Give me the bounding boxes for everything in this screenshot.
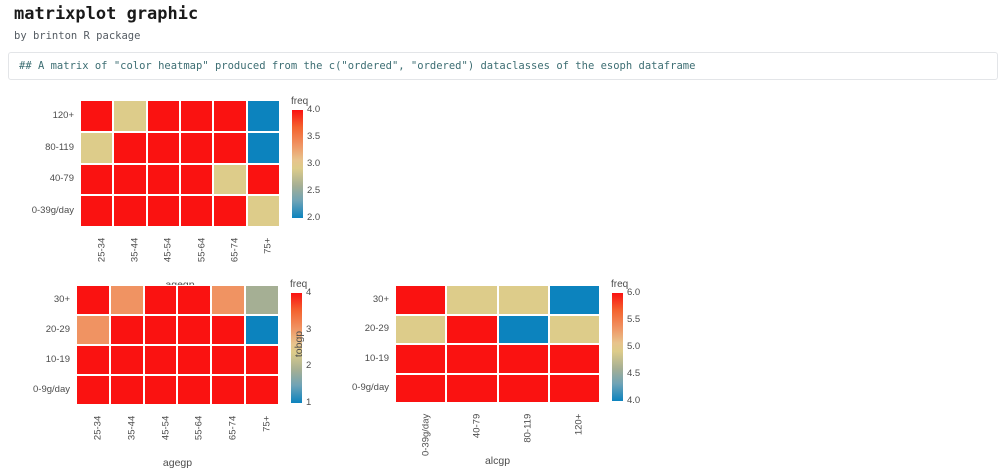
heatmap-cell — [144, 285, 178, 315]
heatmap-cell — [76, 345, 110, 375]
legend-color-bar — [292, 110, 303, 218]
heatmap-cell — [395, 374, 446, 404]
heatmap-cell — [144, 315, 178, 345]
heatmap-cell — [446, 374, 497, 404]
heatmap-cell — [180, 132, 213, 164]
heatmap-cell — [76, 315, 110, 345]
heatmap-cell — [113, 195, 146, 227]
heatmap-cell — [113, 132, 146, 164]
heatmap-cell — [549, 344, 600, 374]
y-tick-label: 120+ — [2, 111, 74, 121]
heatmap-cell — [110, 375, 144, 405]
heatmap-cell — [177, 375, 211, 405]
heatmap-cell — [213, 132, 246, 164]
legend-tick-label: 3.0 — [307, 159, 320, 169]
heatmap-alcgp-agegp: 120+80-11940-790-39g/day25-3435-4445-545… — [0, 92, 340, 277]
heatmap-cell — [177, 285, 211, 315]
heatmap-tobgp-alcgp: 30+20-2910-190-9g/day0-39g/day40-7980-11… — [330, 277, 670, 467]
legend-tick-label: 2.5 — [307, 186, 320, 196]
heatmap-cell — [180, 164, 213, 196]
heatmap-cell — [211, 315, 245, 345]
heatmap-cell — [113, 164, 146, 196]
heatmap-cell — [80, 195, 113, 227]
heatmap-cell — [498, 285, 549, 315]
y-tick-label: 40-79 — [2, 174, 74, 184]
legend-title: freq — [611, 279, 628, 290]
y-tick-label: 20-29 — [317, 324, 389, 334]
heatmap-cell — [177, 315, 211, 345]
heatmap-cell — [147, 132, 180, 164]
x-axis-title: alcgp — [395, 455, 600, 467]
heatmap-cell — [247, 132, 280, 164]
heatmap-panel — [395, 285, 600, 403]
heatmap-cell — [247, 100, 280, 132]
legend-tick-label: 6.0 — [627, 288, 640, 298]
y-tick-label: 10-19 — [317, 354, 389, 364]
heatmap-cell — [80, 164, 113, 196]
heatmap-cell — [446, 344, 497, 374]
heatmap-cell — [213, 100, 246, 132]
legend-tick-label: 3 — [306, 325, 311, 335]
legend-tick-label: 2 — [306, 361, 311, 371]
heatmap-cell — [498, 374, 549, 404]
heatmap-cell — [144, 375, 178, 405]
y-tick-label: 0-39g/day — [2, 206, 74, 216]
legend-tick-label: 2.0 — [307, 213, 320, 223]
heatmap-cell — [549, 374, 600, 404]
heatmap-cell — [213, 195, 246, 227]
code-output-block: ## A matrix of "color heatmap" produced … — [8, 52, 998, 80]
heatmap-cell — [549, 315, 600, 345]
y-tick-label: 30+ — [317, 295, 389, 305]
heatmap-cell — [180, 195, 213, 227]
legend-title: freq — [290, 279, 307, 290]
heatmap-cell — [147, 195, 180, 227]
heatmap-cell — [498, 315, 549, 345]
y-tick-label: 0-9g/day — [0, 385, 70, 395]
heatmap-cell — [113, 100, 146, 132]
legend-tick-label: 4 — [306, 288, 311, 298]
heatmap-cell — [395, 315, 446, 345]
heatmap-cell — [110, 285, 144, 315]
heatmap-cell — [446, 315, 497, 345]
legend-color-bar — [612, 293, 623, 401]
heatmap-cell — [211, 285, 245, 315]
heatmap-cell — [213, 164, 246, 196]
heatmap-cell — [80, 132, 113, 164]
y-tick-label: 30+ — [0, 295, 70, 305]
heatmap-cell — [247, 195, 280, 227]
heatmap-panel — [76, 285, 279, 405]
x-axis-title: agegp — [76, 457, 279, 469]
heatmap-cell — [147, 100, 180, 132]
heatmap-cell — [147, 164, 180, 196]
legend-tick-label: 1 — [306, 398, 311, 408]
heatmap-cell — [395, 344, 446, 374]
heatmap-cell — [245, 345, 279, 375]
legend-tick-label: 4.5 — [627, 369, 640, 379]
heatmap-cell — [549, 285, 600, 315]
legend-tick-label: 3.5 — [307, 132, 320, 142]
heatmap-cell — [76, 285, 110, 315]
legend-title: freq — [291, 96, 308, 107]
legend-tick-label: 5.0 — [627, 342, 640, 352]
page-title: matrixplot graphic — [14, 4, 198, 24]
heatmap-cell — [180, 100, 213, 132]
heatmap-cell — [498, 344, 549, 374]
heatmap-cell — [247, 164, 280, 196]
y-tick-label: 20-29 — [0, 325, 70, 335]
y-tick-label: 80-119 — [2, 143, 74, 153]
legend-tick-label: 4.0 — [627, 396, 640, 406]
heatmap-panel — [80, 100, 280, 227]
heatmap-cell — [144, 345, 178, 375]
y-axis-title: tobgp — [293, 314, 305, 374]
legend-tick-label: 5.5 — [627, 315, 640, 325]
heatmap-cell — [211, 345, 245, 375]
heatmap-cell — [245, 315, 279, 345]
heatmap-tobgp-agegp: 30+20-2910-190-9g/day25-3435-4445-5455-6… — [0, 277, 340, 467]
heatmap-cell — [245, 285, 279, 315]
heatmap-cell — [80, 100, 113, 132]
page-subtitle: by brinton R package — [14, 30, 140, 42]
heatmap-cell — [395, 285, 446, 315]
legend-tick-label: 4.0 — [307, 105, 320, 115]
y-tick-label: 10-19 — [0, 355, 70, 365]
y-tick-label: 0-9g/day — [317, 383, 389, 393]
heatmap-cell — [177, 345, 211, 375]
heatmap-cell — [446, 285, 497, 315]
heatmap-cell — [211, 375, 245, 405]
code-comment-text: ## A matrix of "color heatmap" produced … — [9, 60, 695, 72]
heatmap-cell — [110, 315, 144, 345]
heatmap-cell — [76, 375, 110, 405]
heatmap-cell — [110, 345, 144, 375]
heatmap-cell — [245, 375, 279, 405]
